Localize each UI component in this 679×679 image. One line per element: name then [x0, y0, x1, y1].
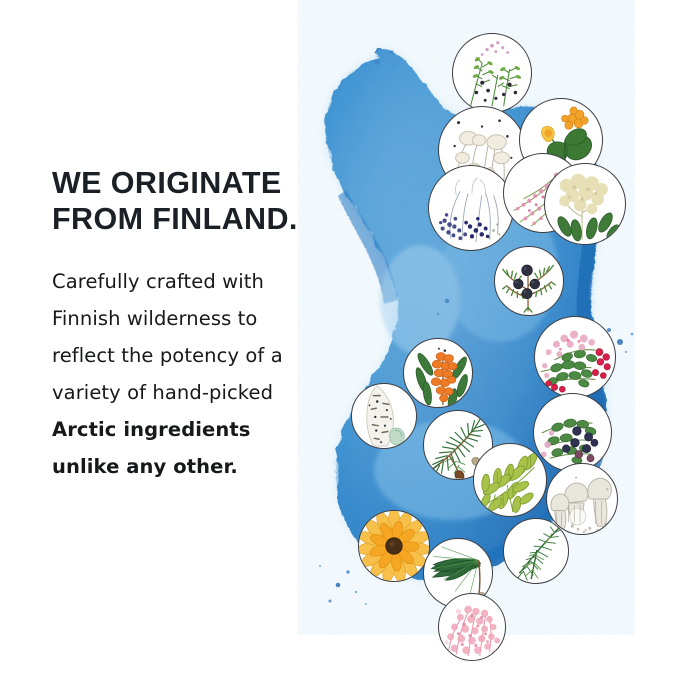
body-line-4: variety of hand-picked — [52, 374, 352, 411]
circle-juniper-berries — [494, 246, 564, 316]
body-line-3: reflect the potency of a — [52, 337, 352, 374]
map-lapland-arm — [375, 47, 452, 190]
circle-bilberry-sprigs — [428, 165, 514, 251]
circle-sea-buckthorn — [403, 338, 473, 408]
body-line-5: Arctic ingredients — [52, 411, 352, 448]
body-line-1: Carefully crafted with — [52, 263, 352, 300]
circle-bilberry-cluster — [533, 393, 612, 472]
circle-meadowsweet-cream — [544, 163, 626, 245]
circle-chanterelle-mushroom — [546, 463, 618, 535]
circle-lingonberry — [534, 316, 616, 398]
text-block: WE ORIGINATE FROM FINLAND. Carefully cra… — [52, 165, 352, 485]
circle-spruce-sprig — [503, 518, 569, 584]
circle-crowberry-heather — [452, 33, 532, 113]
poster-root: WE ORIGINATE FROM FINLAND. Carefully cra… — [0, 0, 679, 679]
circle-calendula-flower — [358, 510, 430, 582]
circle-pink-heather — [438, 593, 506, 661]
body-line-2: Finnish wilderness to — [52, 300, 352, 337]
body-copy: Carefully crafted withFinnish wilderness… — [52, 263, 352, 485]
circle-birch-bark — [351, 383, 417, 449]
circle-cloudberry-leaf — [473, 443, 547, 517]
page-title: WE ORIGINATE FROM FINLAND. — [52, 165, 352, 237]
body-line-6: unlike any other. — [52, 448, 352, 485]
